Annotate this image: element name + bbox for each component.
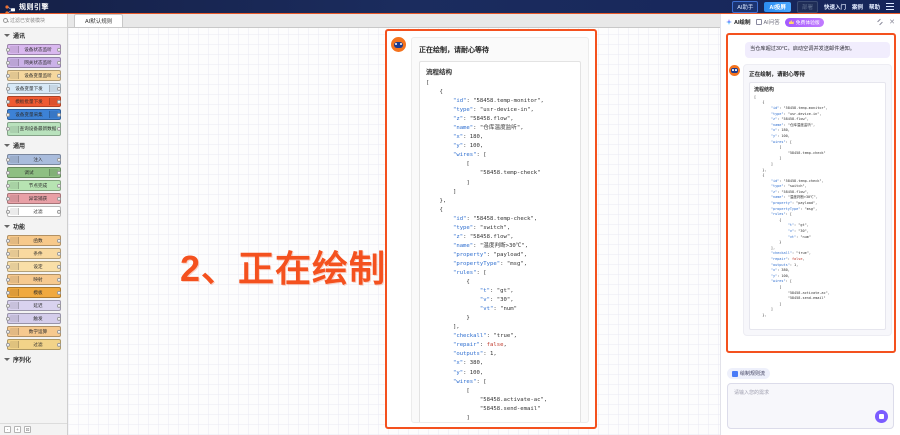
user-message: 当仓库超过30°C，启动空调并发送邮件通知。 [745, 42, 890, 58]
palette-node[interactable]: 查询设备最新数据 [7, 122, 61, 136]
palette-node[interactable]: 设备状态监听 [7, 44, 61, 55]
help-link[interactable]: 帮助 [869, 3, 880, 11]
palette-node[interactable]: 过滤 [7, 339, 61, 350]
collect-icon [49, 111, 58, 118]
chevron-down-icon [4, 144, 10, 147]
palette-node-label: 设定 [19, 264, 58, 269]
palette-node[interactable]: 延迟 [7, 300, 61, 311]
palette-group-header[interactable]: 序列化 [0, 352, 67, 366]
template-icon [10, 289, 19, 296]
palette-group-header[interactable]: 通用 [0, 138, 67, 152]
bot-avatar [391, 37, 406, 52]
palette-node[interactable]: 过滤 [7, 206, 61, 217]
palette-node-label: 异常捕获 [19, 196, 58, 201]
palette-node-label: 过滤 [19, 209, 58, 214]
bot-avatar-small [729, 65, 740, 76]
ai-assistant-button[interactable]: AI助手 [732, 1, 758, 13]
composer-placeholder: 请输入您的需求 [734, 390, 769, 396]
palette-node[interactable]: 设备变量下发 [7, 83, 61, 94]
ai-panel-header-actions: ✕ [877, 18, 895, 26]
palette-node-label: 设备变量监听 [19, 73, 58, 78]
rbe-icon [10, 341, 19, 348]
batch-icon [49, 98, 58, 105]
palette-group-label: 功能 [13, 222, 25, 231]
download-icon [49, 85, 58, 92]
bot-message-title: 正在绘制，请耐心等待 [749, 70, 886, 78]
palette-footer: - + ⊡ [0, 423, 67, 435]
ai-panel-header: AI绘制 AI问答 免费体验版 ✕ [721, 14, 900, 30]
answer-card-highlight: 正在绘制，请耐心等待 流程结构 [ { "id": "58458.temp-mo… [385, 29, 597, 429]
bot-message: 正在绘制，请耐心等待 流程结构 [ { "id": "58458.temp-mo… [727, 64, 894, 336]
palette-node[interactable]: 注入 [7, 154, 61, 165]
bot-flow-structure-title: 流程结构 [754, 86, 881, 93]
variable-icon [10, 72, 19, 79]
palette-node-label: 模板批量下发 [10, 99, 49, 104]
ai-composer-area: 绘制规则流 请输入您的需求 [721, 360, 900, 435]
palette-group-label: 通用 [13, 141, 25, 150]
palette-node-label: 延迟 [19, 303, 58, 308]
flow-structure-title: 流程结构 [420, 62, 580, 79]
debug-icon [49, 169, 58, 176]
palette-node[interactable]: 模板批量下发 [7, 96, 61, 107]
ai-cast-button[interactable]: AI投屏 [764, 2, 791, 12]
palette-node-label: 触发 [19, 316, 58, 321]
search-icon [3, 18, 8, 23]
chevron-down-icon [4, 34, 10, 37]
quickstart-link[interactable]: 快速入门 [824, 3, 846, 11]
flow-structure-code: [ { "id": "58458.temp-monitor", "type": … [420, 79, 580, 423]
palette-node[interactable]: 条件 [7, 248, 61, 259]
palette-node-label: 设备状态监听 [19, 47, 58, 52]
ai-side-panel: AI绘制 AI问答 免费体验版 ✕ 当仓库超过30°C，启动空调并发送邮件通知。 [720, 14, 900, 435]
brand: 规则引擎 [0, 2, 49, 12]
palette-node-label: 网关状态监听 [19, 60, 58, 65]
palette-group-header[interactable]: 功能 [0, 219, 67, 233]
bot-message-bubble: 正在绘制，请耐心等待 流程结构 [ { "id": "58458.temp-mo… [743, 64, 892, 336]
step-overlay-label: 2、正在绘制 [180, 240, 386, 292]
device-icon [10, 46, 19, 53]
palette-node-label: 注入 [19, 157, 58, 162]
delay-icon [10, 302, 19, 309]
brand-title: 规则引擎 [19, 2, 49, 12]
node-palette[interactable]: 通讯设备状态监听网关状态监听设备变量监听设备变量下发模板批量下发设备变量采集查询… [0, 28, 67, 423]
palette-node-label: 查询设备最新数据 [19, 126, 58, 131]
function-icon [10, 237, 19, 244]
palette-node[interactable]: 异常捕获 [7, 193, 61, 204]
stop-square-icon[interactable] [875, 410, 888, 423]
trigger-icon [10, 315, 19, 322]
zoom-reset-button[interactable]: ⊡ [24, 426, 31, 433]
palette-node-label: 映射 [19, 277, 58, 282]
ai-sparkle-icon [726, 19, 732, 25]
flow-structure-box: 流程结构 [ { "id": "58458.temp-monitor", "ty… [419, 61, 581, 423]
ai-composer[interactable]: 请输入您的需求 [727, 383, 894, 429]
crown-icon [789, 20, 794, 24]
palette-node-label: 函数 [19, 238, 58, 243]
palette-node[interactable]: 触发 [7, 313, 61, 324]
filter-icon [10, 208, 19, 215]
palette-node[interactable]: 调试 [7, 167, 61, 178]
palette-search[interactable]: 过滤已安装模块 [0, 14, 67, 28]
palette-node[interactable]: 设备变量监听 [7, 70, 61, 81]
palette-node-label: 模板 [19, 290, 58, 295]
free-trial-badge[interactable]: 免费体验版 [785, 18, 824, 27]
draw-flow-icon [732, 371, 738, 377]
gateway-icon [10, 59, 19, 66]
top-bar: 规则引擎 AI助手 AI投屏 部署 快速入门 案例 帮助 [0, 0, 900, 14]
palette-node[interactable]: 网关状态监听 [7, 57, 61, 68]
palette-node[interactable]: 映射 [7, 274, 61, 285]
palette-node-label: 过滤 [19, 342, 58, 347]
palette-node[interactable]: 函数 [7, 235, 61, 246]
bot-flow-structure-code: [ { "id": "58458.temp-monitor", "type": … [754, 95, 881, 319]
answer-panel: 正在绘制，请耐心等待 流程结构 [ { "id": "58458.temp-mo… [411, 37, 589, 423]
change-icon [10, 263, 19, 270]
catch-icon [10, 195, 19, 202]
ai-chat-body[interactable]: 当仓库超过30°C，启动空调并发送邮件通知。 正在绘制，请耐心等待 流程结构 [… [721, 30, 900, 360]
bot-flow-structure-box: 流程结构 [ { "id": "58458.temp-monitor", "ty… [749, 82, 886, 330]
mode-chip-label: 绘制规则流 [740, 370, 765, 377]
zoom-in-button[interactable]: + [14, 426, 21, 433]
palette-node[interactable]: 设定 [7, 261, 61, 272]
palette-node[interactable]: 数学运算 [7, 326, 61, 337]
tab-ai-draw-label: AI绘制 [734, 18, 751, 26]
expand-icon[interactable] [877, 19, 883, 25]
tab-ai-default-rule[interactable]: AI默认规则 [74, 14, 123, 27]
palette-node-label: 设备变量采集 [10, 112, 49, 117]
free-trial-badge-label: 免费体验版 [796, 19, 820, 26]
close-icon[interactable]: ✕ [889, 18, 895, 26]
app-root: 规则引擎 AI助手 AI投屏 部署 快速入门 案例 帮助 过滤已安装模块 通讯设… [0, 0, 900, 435]
palette-node-label: 条件 [19, 251, 58, 256]
tab-ai-qa-label: AI问答 [764, 18, 780, 26]
query-icon [10, 126, 19, 133]
hamburger-menu-icon[interactable] [886, 3, 894, 10]
chevron-down-icon [4, 225, 10, 228]
zoom-out-button[interactable]: - [4, 426, 11, 433]
mode-chip-draw-flow[interactable]: 绘制规则流 [727, 368, 770, 379]
palette-node[interactable]: 模板 [7, 287, 61, 298]
palette-node[interactable]: 设备变量采集 [7, 109, 61, 120]
palette-node-label: 设备变量下发 [10, 86, 49, 91]
left-sidebar: 过滤已安装模块 通讯设备状态监听网关状态监听设备变量监听设备变量下发模板批量下发… [0, 14, 68, 435]
complete-icon [10, 182, 19, 189]
inject-icon [10, 156, 19, 163]
palette-node-label: 数学运算 [19, 329, 58, 334]
tab-ai-qa[interactable]: AI问答 [756, 18, 780, 26]
ai-chat-icon [756, 19, 762, 25]
deploy-button[interactable]: 部署 [797, 1, 818, 13]
palette-node-label: 调试 [10, 170, 49, 175]
palette-group-label: 通讯 [13, 31, 25, 40]
palette-group-label: 序列化 [13, 355, 31, 364]
map-icon [10, 276, 19, 283]
tab-ai-draw[interactable]: AI绘制 [726, 18, 751, 26]
palette-node[interactable]: 节点完成 [7, 180, 61, 191]
palette-group-header[interactable]: 通讯 [0, 28, 67, 42]
switch-icon [10, 250, 19, 257]
flow-nodes-logo-icon [5, 2, 16, 12]
math-icon [10, 328, 19, 335]
chevron-down-icon [4, 358, 10, 361]
palette-search-placeholder: 过滤已安装模块 [10, 17, 45, 24]
answer-title: 正在绘制，请耐心等待 [419, 45, 581, 55]
cases-link[interactable]: 案例 [852, 3, 863, 11]
palette-node-label: 节点完成 [19, 183, 58, 188]
top-actions: AI助手 AI投屏 部署 快速入门 案例 帮助 [732, 1, 900, 13]
